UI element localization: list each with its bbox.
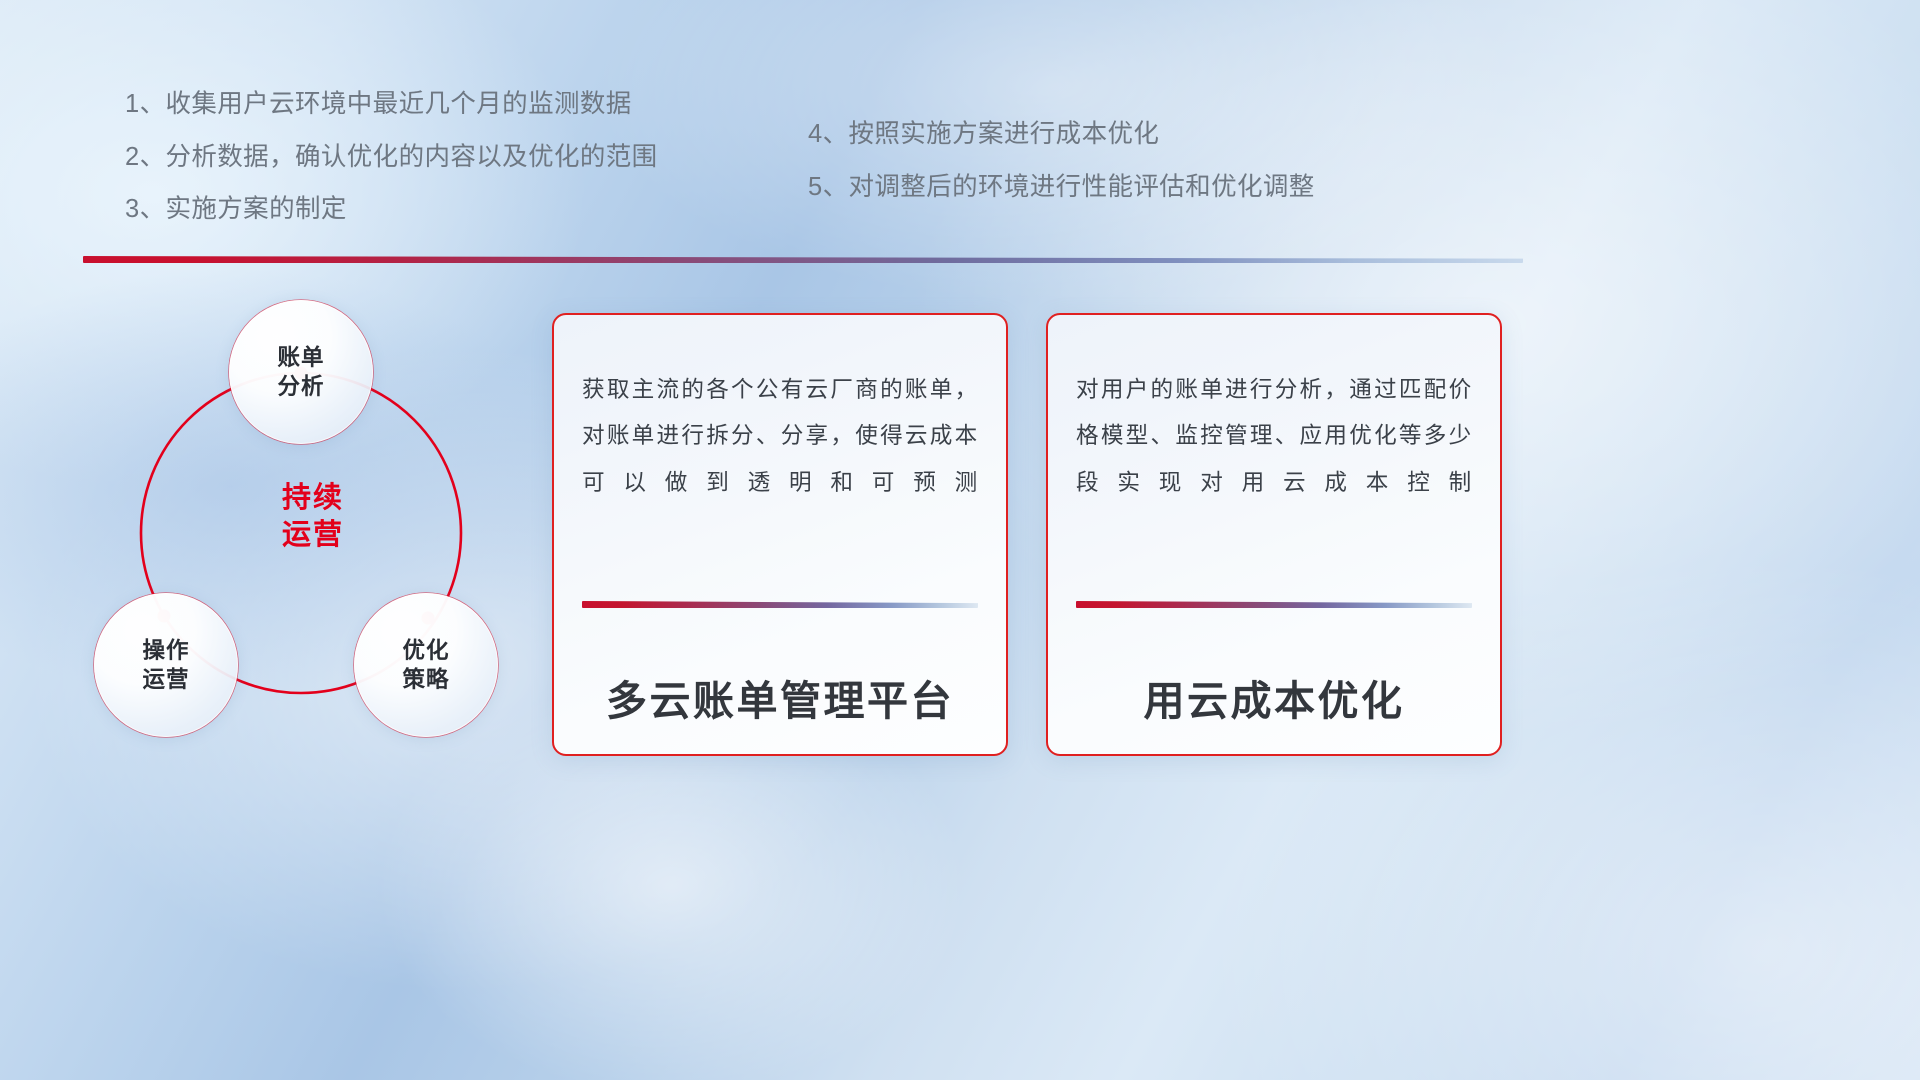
bubble-label-line2: 运营 [142, 665, 189, 694]
bubble-label-line1: 优化 [402, 636, 449, 665]
continuous-operation-diagram: 账单 分析 操作 运营 优化 策略 持续 运营 [78, 288, 548, 768]
feature-card[interactable]: 获取主流的各个公有云厂商的账单，对账单进行拆分、分享，使得云成本可以做到透明和可… [552, 313, 1008, 756]
card-body-text: 对用户的账单进行分析，通过匹配价格模型、监控管理、应用优化等多少段实现对用云成本… [1076, 367, 1472, 506]
list-item: 1、收集用户云环境中最近几个月的监测数据 [125, 92, 658, 118]
list-item: 3、实施方案的制定 [125, 197, 658, 223]
bubble-label-line1: 账单 [277, 343, 324, 372]
center-label-line2: 运营 [78, 517, 548, 554]
bubble-label-line2: 分析 [277, 372, 324, 401]
bubble-optimization-strategy[interactable]: 优化 策略 [354, 593, 498, 737]
bubble-operations[interactable]: 操作 运营 [94, 593, 238, 737]
list-item: 5、对调整后的环境进行性能评估和优化调整 [808, 175, 1315, 201]
steps-list-left: 1、收集用户云环境中最近几个月的监测数据 2、分析数据，确认优化的内容以及优化的… [125, 92, 658, 223]
list-item: 4、按照实施方案进行成本优化 [808, 122, 1315, 148]
card-divider [582, 601, 978, 608]
bubble-label-line1: 操作 [142, 636, 189, 665]
card-title: 多云账单管理平台 [554, 667, 1006, 727]
card-title: 用云成本优化 [1048, 667, 1500, 727]
card-body-text: 获取主流的各个公有云厂商的账单，对账单进行拆分、分享，使得云成本可以做到透明和可… [582, 367, 978, 506]
bubble-bill-analysis[interactable]: 账单 分析 [229, 300, 373, 444]
center-label-line1: 持续 [78, 480, 548, 517]
list-item: 2、分析数据，确认优化的内容以及优化的范围 [125, 145, 658, 171]
feature-card[interactable]: 对用户的账单进行分析，通过匹配价格模型、监控管理、应用优化等多少段实现对用云成本… [1046, 313, 1502, 756]
steps-list-right: 4、按照实施方案进行成本优化 5、对调整后的环境进行性能评估和优化调整 [808, 122, 1315, 200]
card-divider [1076, 601, 1472, 608]
bubble-label-line2: 策略 [402, 665, 449, 694]
diagram-center-label: 持续 运营 [78, 480, 548, 554]
